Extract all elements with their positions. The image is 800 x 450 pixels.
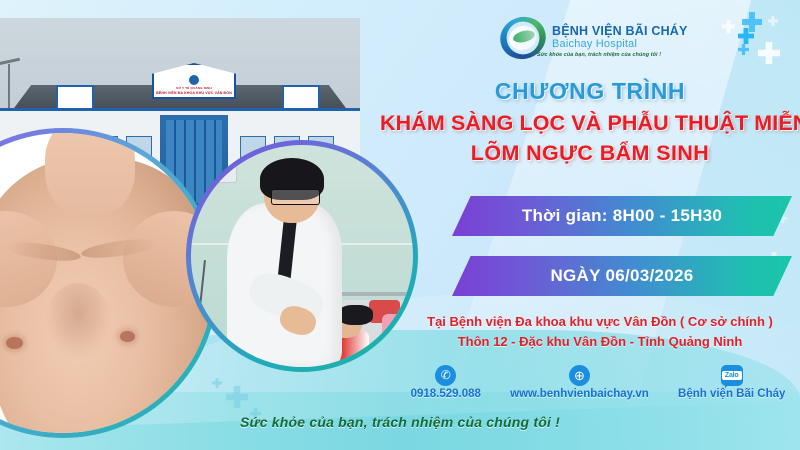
zalo-bubble: Zalo — [721, 365, 743, 386]
time-banner: Thời gian: 8H00 - 15H30 — [452, 196, 792, 236]
contact-row: ✆ 0918.529.088 ⊕ www.benhvienbaichay.vn … — [396, 364, 800, 400]
contact-zalo[interactable]: Zalo Bệnh viện Bãi Cháy — [678, 364, 785, 400]
doctor-photo-ring — [186, 140, 418, 372]
hospital-logo-slogan: Sức khỏe của bạn, trách nhiệm của chúng … — [524, 52, 674, 58]
address-block: Tại Bệnh viện Đa khoa khu vực Vân Đồn ( … — [400, 312, 800, 352]
anatomy-marker-right — [120, 331, 135, 342]
headline-main: KHÁM SÀNG LỌC VÀ PHẪU THUẬT MIỄN PHÍ — [380, 111, 800, 136]
ac-unit-icon — [191, 145, 237, 183]
tagline: Sức khỏe của bạn, trách nhiệm của chúng … — [0, 414, 800, 430]
pectus-excavatum-depression — [45, 283, 111, 361]
date-banner: NGÀY 06/03/2026 — [452, 256, 792, 296]
zalo-glyph: Zalo — [722, 371, 742, 380]
contact-website-label: www.benhvienbaichay.vn — [510, 388, 649, 400]
medical-cross-icon — [758, 42, 780, 64]
address-line-1: Tại Bệnh viện Đa khoa khu vực Vân Đồn ( … — [400, 312, 800, 332]
ministry-emblem-icon — [189, 75, 199, 85]
headline-program: CHƯƠNG TRÌNH — [380, 78, 800, 105]
contact-zalo-label: Bệnh viện Bãi Cháy — [678, 388, 785, 400]
doctor-glasses-icon — [271, 189, 320, 204]
medical-cross-icon — [722, 20, 735, 33]
medical-cross-icon — [738, 44, 749, 55]
patient-neck — [45, 133, 135, 217]
promotional-banner: SỞ Y TẾ QUẢNG NINH BỆNH VIỆN ĐA KHOA KHU… — [0, 0, 800, 450]
contact-website[interactable]: ⊕ www.benhvienbaichay.vn — [510, 364, 649, 400]
globe-glyph: ⊕ — [569, 365, 590, 386]
zalo-icon: Zalo — [721, 364, 743, 386]
hospital-logo-text: BỆNH VIỆN BÃI CHÁY Baichay Hospital — [552, 25, 688, 51]
building-sign-line1: SỞ Y TẾ QUẢNG NINH — [176, 86, 212, 90]
address-line-2: Thôn 12 - Đặc khu Vân Đồn - Tỉnh Quảng N… — [400, 332, 800, 352]
headline-block: CHƯƠNG TRÌNH KHÁM SÀNG LỌC VÀ PHẪU THUẬT… — [380, 78, 800, 166]
phone-glyph: ✆ — [435, 365, 456, 386]
medical-cross-icon — [212, 378, 222, 388]
hospital-name-vi: BỆNH VIỆN BÃI CHÁY — [552, 25, 688, 38]
contact-phone[interactable]: ✆ 0918.529.088 — [411, 364, 481, 400]
doctor-examining-patient-photo — [191, 145, 413, 367]
globe-icon: ⊕ — [568, 364, 590, 386]
contact-phone-label: 0918.529.088 — [411, 388, 481, 400]
building-sign-line2: BỆNH VIỆN ĐA KHOA KHU VỰC VÂN ĐỒN — [156, 91, 232, 95]
medical-cross-icon — [226, 386, 248, 408]
medical-cross-icon — [768, 16, 778, 26]
hospital-name-en: Baichay Hospital — [552, 39, 688, 51]
phone-icon: ✆ — [435, 364, 457, 386]
headline-sub: LÕM NGỰC BẨM SINH — [380, 141, 800, 166]
patient-hair — [338, 305, 374, 325]
anatomy-marker-left — [6, 337, 23, 349]
